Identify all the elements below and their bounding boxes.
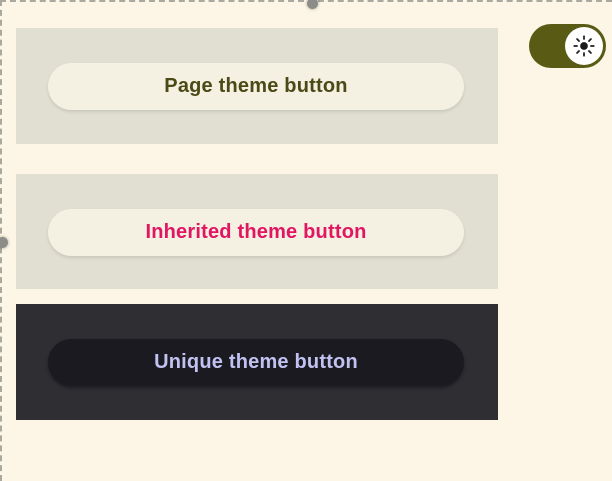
unique-theme-button[interactable]: Unique theme button bbox=[48, 339, 464, 386]
theme-mode-toggle[interactable] bbox=[529, 24, 606, 68]
resize-handle-top[interactable] bbox=[307, 0, 318, 9]
toggle-knob bbox=[565, 27, 603, 65]
inherited-theme-section: Inherited theme button bbox=[16, 174, 498, 289]
unique-theme-section: Unique theme button bbox=[16, 304, 498, 420]
resize-handle-left[interactable] bbox=[0, 237, 8, 248]
inherited-theme-button[interactable]: Inherited theme button bbox=[48, 209, 464, 256]
page-theme-section: Page theme button bbox=[16, 28, 498, 144]
page-frame: Page theme button Inherited theme button… bbox=[0, 0, 612, 481]
page-theme-button[interactable]: Page theme button bbox=[48, 63, 464, 110]
sun-icon bbox=[573, 35, 595, 57]
